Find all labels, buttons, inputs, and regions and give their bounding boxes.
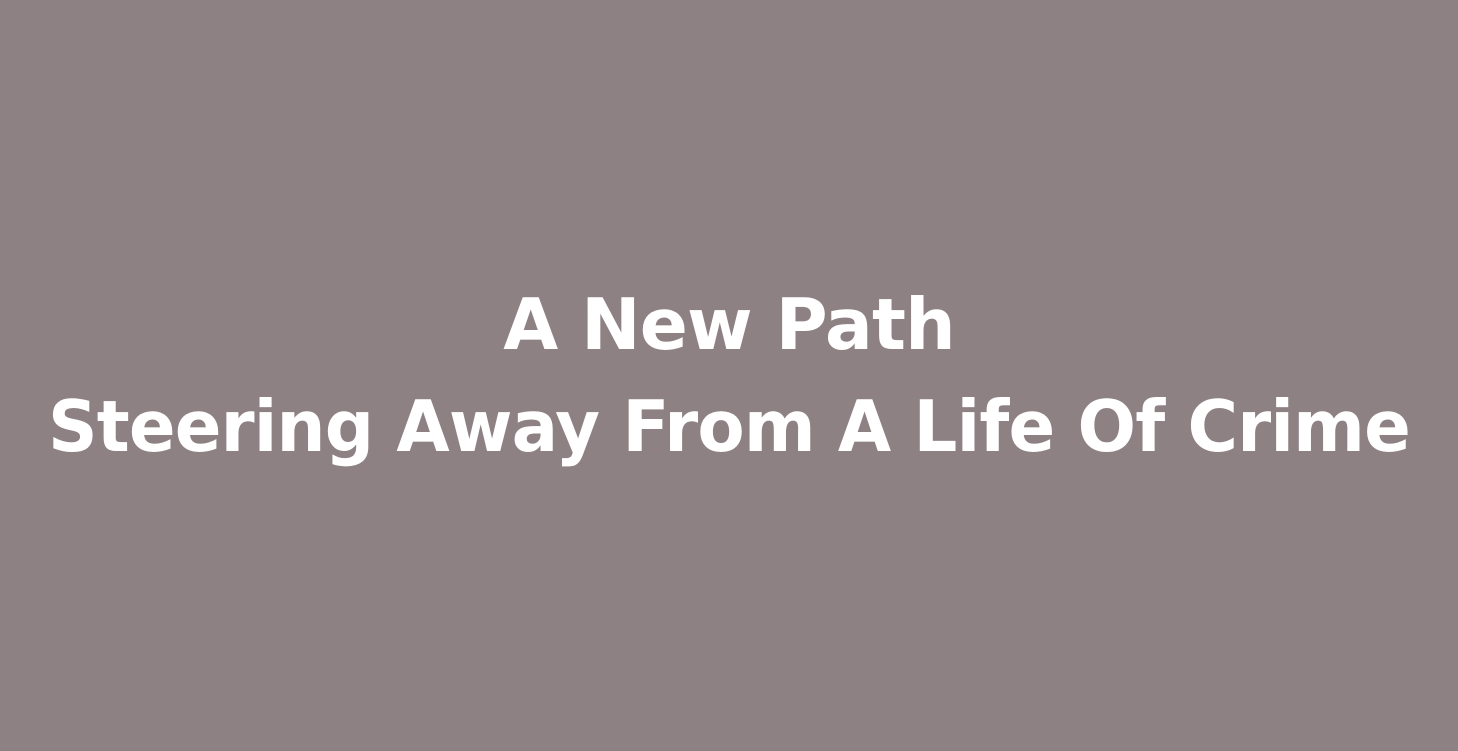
title-card: A New Path Steering Away From A Life Of … bbox=[0, 0, 1458, 751]
title-line-secondary: Steering Away From A Life Of Crime bbox=[45, 376, 1413, 478]
title-line-primary: A New Path bbox=[24, 274, 1434, 376]
title-block: A New Path Steering Away From A Life Of … bbox=[0, 274, 1458, 478]
